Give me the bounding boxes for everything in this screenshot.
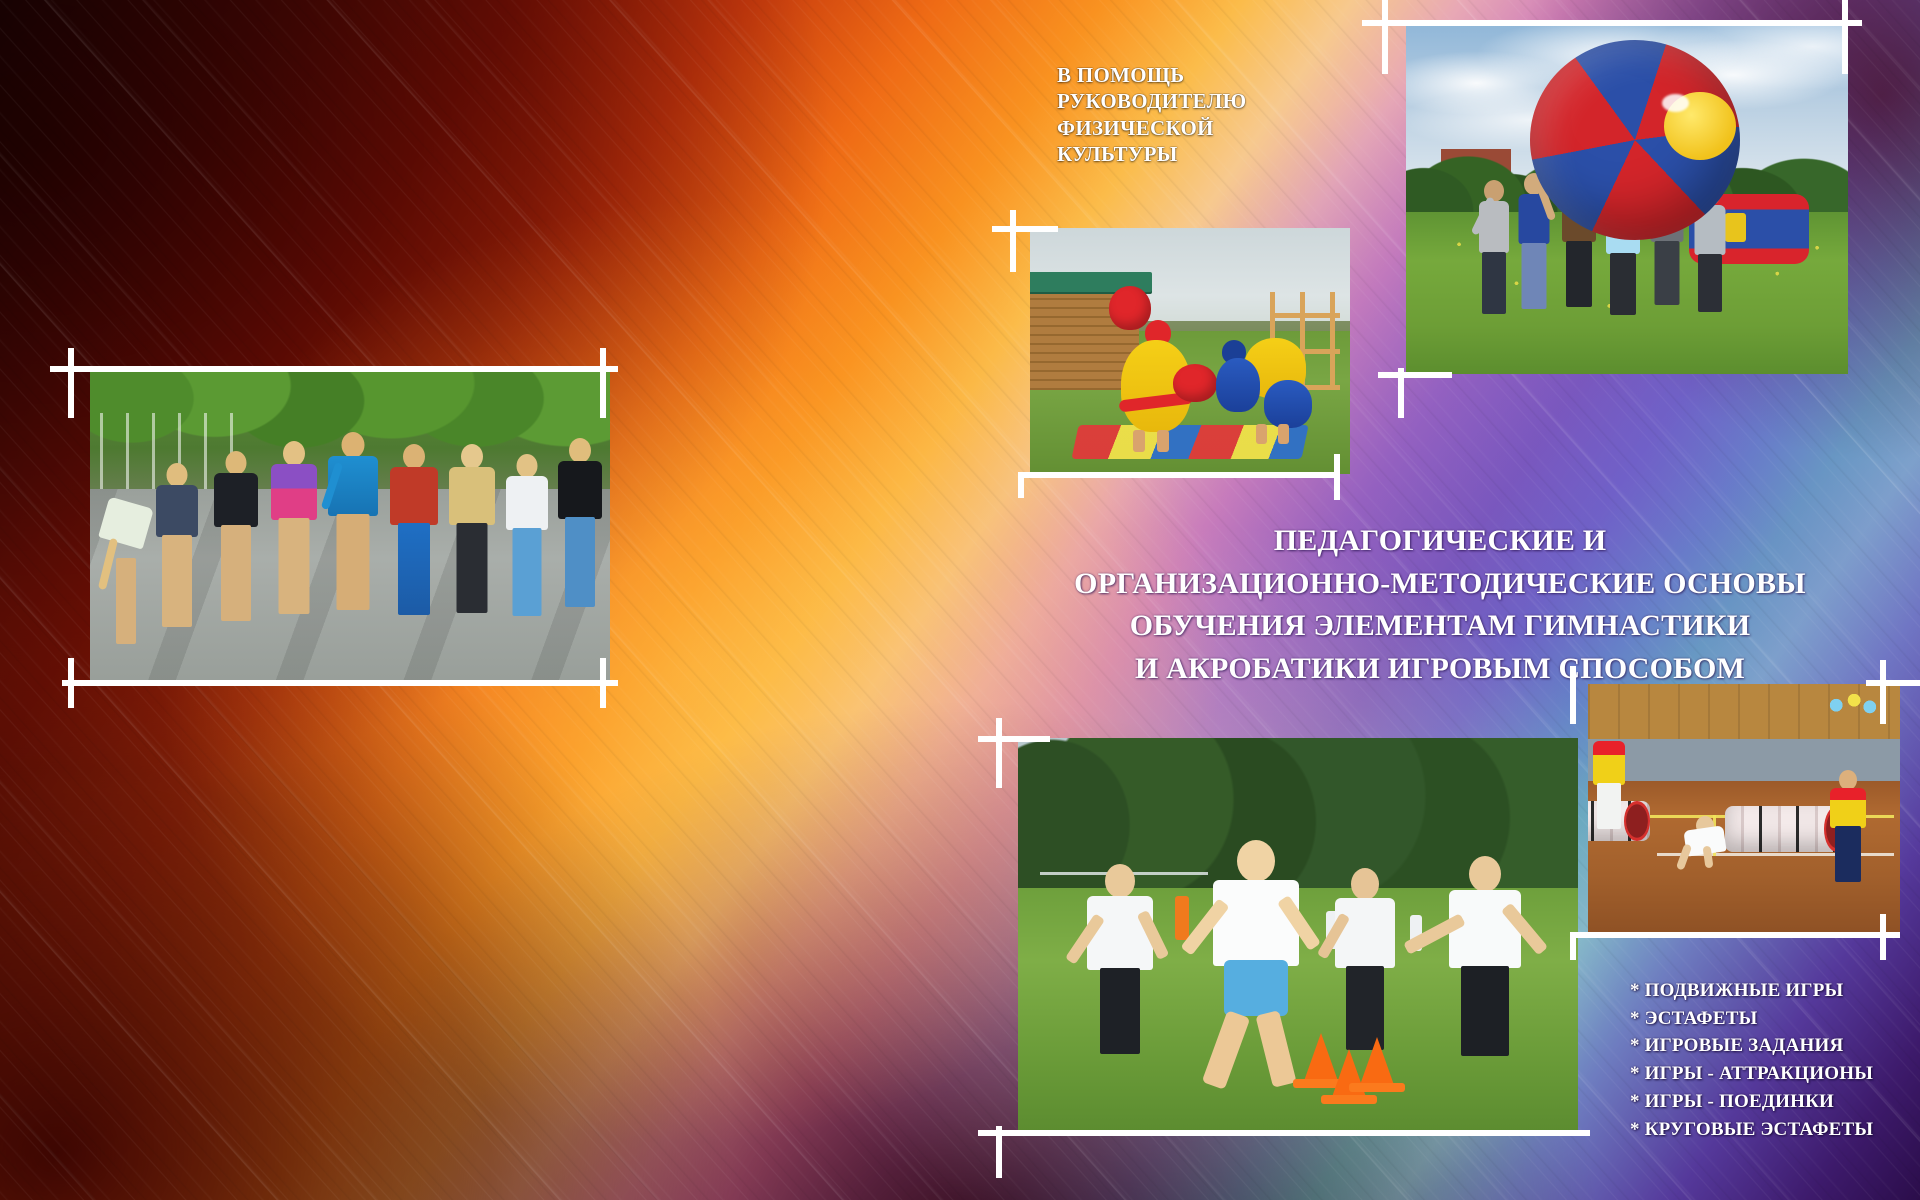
person-figure <box>324 432 382 667</box>
traffic-cone <box>1360 1037 1394 1085</box>
title-line-4: И АКРОБАТИКИ ИГРОВЫМ СПОСОБОМ <box>1000 648 1880 691</box>
person-figure <box>553 438 607 661</box>
child-runner <box>1208 840 1304 1124</box>
activity-list: * ПОДВИЖНЫЕ ИГРЫ * ЭСТАФЕТЫ * ИГРОВЫЕ ЗА… <box>1630 977 1910 1143</box>
balloon-cluster <box>1825 694 1881 722</box>
photo-giant-ball <box>1406 22 1848 374</box>
list-item: * ИГРЫ - АТТРАКЦИОНЫ <box>1630 1060 1910 1088</box>
list-item: * ИГРОВЫЕ ЗАДАНИЯ <box>1630 1032 1910 1060</box>
child-runner <box>1085 864 1155 1116</box>
kicker-heading: В ПОМОЩЬ РУКОВОДИТЕЛЮ ФИЗИЧЕСКОЙ КУЛЬТУР… <box>1057 62 1307 168</box>
title-line-1: ПЕДАГОГИЧЕСКИЕ И <box>1000 520 1880 563</box>
photo-running-kids-image <box>1018 738 1578 1132</box>
person-figure <box>444 444 500 667</box>
distant-adult <box>1175 896 1189 940</box>
photo-running-kids <box>1018 738 1578 1132</box>
photo-sumo-suits-image <box>1030 228 1350 474</box>
photo-sumo-suits <box>1030 228 1350 474</box>
poster-canvas: В ПОМОЩЬ РУКОВОДИТЕЛЮ ФИЗИЧЕСКОЙ КУЛЬТУР… <box>0 0 1920 1200</box>
list-item: * ПОДВИЖНЫЕ ИГРЫ <box>1630 977 1910 1005</box>
coach-figure <box>1591 735 1627 837</box>
photo-gym-tunnel-image <box>1588 684 1900 938</box>
coach-figure <box>1825 770 1871 887</box>
person-figure <box>267 441 321 664</box>
child-runner <box>1444 856 1526 1116</box>
sumo-yellow <box>1113 312 1205 450</box>
child-crawling <box>1682 816 1728 882</box>
child-figure <box>1477 180 1511 349</box>
photo-gym-tunnel <box>1588 684 1900 938</box>
list-item: * ИГРЫ - ПОЕДИНКИ <box>1630 1088 1910 1116</box>
person-figure <box>100 502 152 667</box>
photo-team-line-image <box>90 368 610 686</box>
sumo-blue <box>1216 336 1312 454</box>
person-figure <box>386 444 442 667</box>
list-item: * ЭСТАФЕТЫ <box>1630 1005 1910 1033</box>
child-figure <box>1517 173 1551 349</box>
title-line-2: ОРГАНИЗАЦИОННО-МЕТОДИЧЕСКИЕ ОСНОВЫ <box>1000 563 1880 606</box>
person-figure <box>210 451 262 667</box>
person-figure <box>501 454 553 664</box>
person-figure <box>152 463 202 667</box>
page-title: ПЕДАГОГИЧЕСКИЕ И ОРГАНИЗАЦИОННО-МЕТОДИЧЕ… <box>1000 520 1880 690</box>
giant-beach-ball <box>1530 40 1740 240</box>
photo-giant-ball-image <box>1406 22 1848 374</box>
photo-team-line <box>90 368 610 686</box>
list-item: * КРУГОВЫЕ ЭСТАФЕТЫ <box>1630 1116 1910 1144</box>
title-line-3: ОБУЧЕНИЯ ЭЛЕМЕНТАМ ГИМНАСТИКИ <box>1000 605 1880 648</box>
